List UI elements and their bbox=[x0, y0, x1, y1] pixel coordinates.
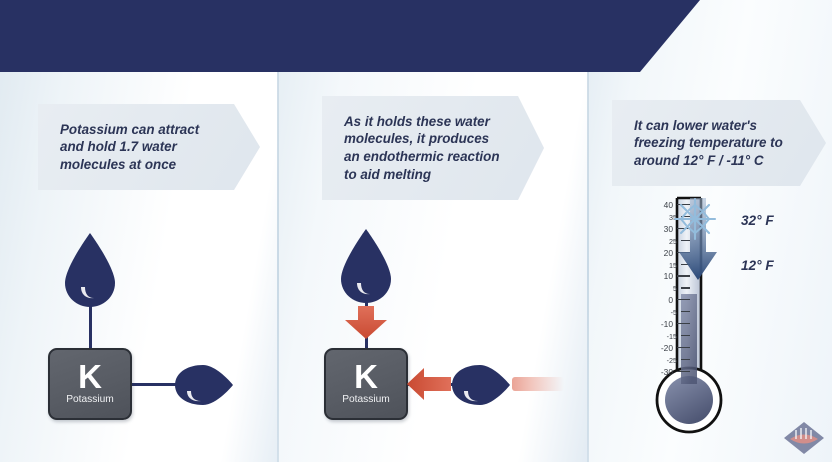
water-droplet-side-icon bbox=[173, 363, 235, 407]
thermometer-scale-value--25: -25 bbox=[651, 356, 677, 365]
callout-3-text: It can lower water's freezing temperatur… bbox=[634, 100, 786, 186]
callout-2-line-2: molecules, it produces bbox=[344, 130, 504, 148]
infographic-canvas: CHLORIDE SPOTLIGHT: Potassium Chloride (… bbox=[0, 0, 832, 462]
element-symbol-1: K bbox=[78, 361, 102, 393]
thermometer-scale-value-0: 0 bbox=[647, 296, 673, 305]
potassium-element-box-2: K Potassium bbox=[324, 348, 408, 420]
thermometer-tick--15 bbox=[681, 335, 690, 336]
thermometer-tick-5 bbox=[681, 287, 690, 288]
callout-2-line-3: an endothermic reaction bbox=[344, 148, 504, 166]
callout-2-line-4: to aid melting bbox=[344, 166, 504, 184]
thermometer-scale-value--15: -15 bbox=[651, 332, 677, 341]
header-banner bbox=[0, 0, 700, 72]
thermometer-tick--10 bbox=[677, 323, 690, 324]
potassium-element-box-1: K Potassium bbox=[48, 348, 132, 420]
element-symbol-2: K bbox=[354, 361, 378, 393]
thermometer-scale-value-30: 30 bbox=[647, 225, 673, 234]
thermometer-scale-value--30: -30 bbox=[647, 368, 673, 377]
element-name-2: Potassium bbox=[342, 394, 390, 406]
snowflake-icon bbox=[672, 196, 718, 242]
callout-2-line-1: As it holds these water bbox=[344, 113, 504, 131]
callout-1-line-1: Potassium can attract bbox=[60, 121, 220, 139]
water-droplet-icon bbox=[61, 231, 119, 309]
thermometer-scale-value--10: -10 bbox=[647, 320, 673, 329]
callout-3-line-2: freezing temperature to bbox=[634, 134, 786, 152]
callout-3-line-1: It can lower water's bbox=[634, 117, 786, 135]
callout-2-text: As it holds these water molecules, it pr… bbox=[344, 96, 504, 200]
endothermic-arrow-left-icon bbox=[406, 367, 452, 401]
element-name-1: Potassium bbox=[66, 394, 114, 406]
callout-panel-1: Potassium can attract and hold 1.7 water… bbox=[38, 104, 260, 190]
endothermic-arrow-down-icon bbox=[344, 306, 388, 340]
thermometer-scale-value-10: 10 bbox=[647, 272, 673, 281]
thermometer-scale-value-15: 15 bbox=[651, 261, 677, 270]
thermometer-scale-value-40: 40 bbox=[647, 201, 673, 210]
thermometer-tick--25 bbox=[681, 359, 690, 360]
callout-panel-3: It can lower water's freezing temperatur… bbox=[612, 100, 826, 186]
water-droplet-side-icon-2 bbox=[450, 363, 512, 407]
thermometer-tick--30 bbox=[677, 371, 690, 372]
water-droplet-icon-2 bbox=[337, 227, 395, 305]
temp-label-12f: 12° F bbox=[741, 258, 774, 273]
callout-1-text: Potassium can attract and hold 1.7 water… bbox=[60, 104, 220, 190]
thermometer-tick--5 bbox=[681, 311, 690, 312]
callout-3-line-3: around 12° F / -11° C bbox=[634, 152, 786, 170]
callout-panel-2: As it holds these water molecules, it pr… bbox=[322, 96, 544, 200]
callout-1-line-2: and hold 1.7 water bbox=[60, 138, 220, 156]
temp-label-32f: 32° F bbox=[741, 213, 774, 228]
thermometer-tick--20 bbox=[677, 347, 690, 348]
thermometer-tick-0 bbox=[677, 299, 690, 300]
arrow-tail-fade bbox=[512, 377, 564, 391]
callout-1-line-3: molecules at once bbox=[60, 156, 220, 174]
thermometer-scale-value-20: 20 bbox=[647, 249, 673, 258]
company-logo bbox=[782, 419, 826, 457]
thermometer-scale-value-5: 5 bbox=[651, 284, 677, 293]
thermometer-scale-value--5: -5 bbox=[651, 308, 677, 317]
thermometer-scale-value--20: -20 bbox=[647, 344, 673, 353]
